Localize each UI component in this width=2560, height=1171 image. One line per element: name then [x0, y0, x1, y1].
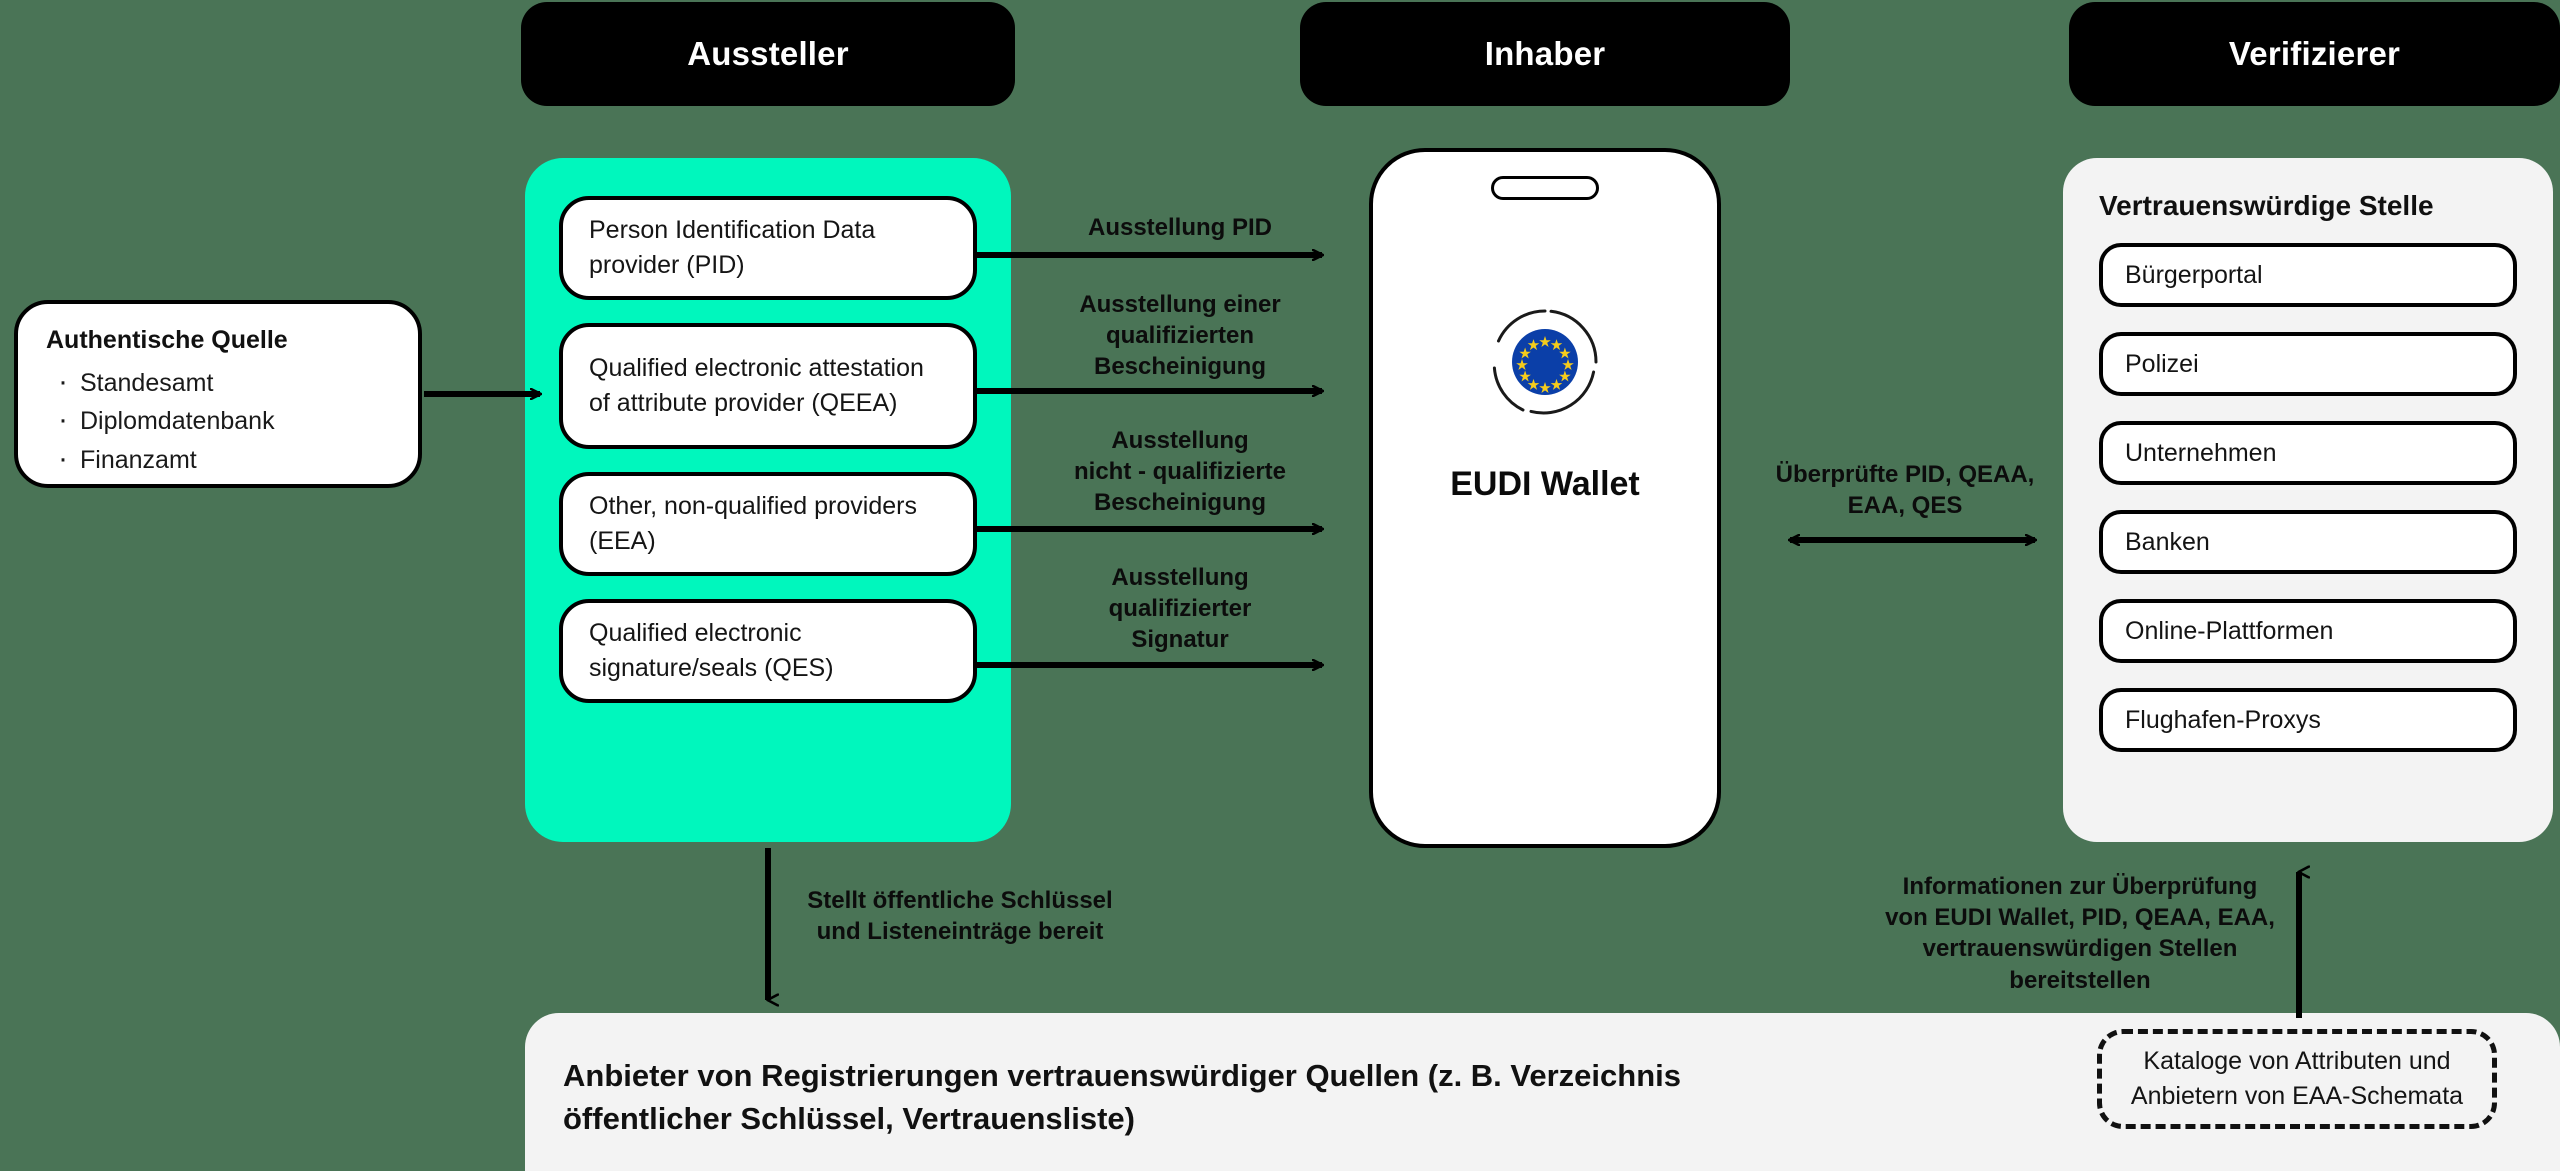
header-pill-verifizierer: Verifizierer: [2069, 2, 2560, 106]
phone-notch-icon: [1491, 176, 1599, 200]
verifier-card-polizei: Polizei: [2099, 332, 2517, 396]
header-pill-label: Inhaber: [1485, 35, 1606, 73]
registry-line-2: öffentlicher Schlüssel, Vertrauensliste): [563, 1101, 1135, 1136]
issuer-card-label: Qualified electronic signature/seals (QE…: [589, 616, 947, 687]
verifier-card-banken: Banken: [2099, 510, 2517, 574]
issuer-card-label: Person Identification Data provider (PID…: [589, 213, 947, 284]
flow-label-publish-keys: Stellt öffentliche Schlüssel und Listene…: [780, 885, 1140, 947]
authentic-source-box: Authentische Quelle Standesamt Diplomdat…: [14, 300, 422, 488]
verifier-card-buergerportal: Bürgerportal: [2099, 243, 2517, 307]
flow-label-issue-pid: Ausstellung PID: [1055, 212, 1305, 243]
verifier-panel: Vertrauenswürdige Stelle Bürgerportal Po…: [2063, 158, 2553, 842]
flow-label-issue-qes: Ausstellung qualifizierter Signatur: [1055, 562, 1305, 656]
verifier-card-label: Bürgerportal: [2125, 261, 2263, 290]
issuer-card-qes: Qualified electronic signature/seals (QE…: [559, 599, 977, 703]
flow-label-provide-info: Informationen zur Überprüfung von EUDI W…: [1855, 871, 2305, 996]
issuer-card-pid: Person Identification Data provider (PID…: [559, 196, 977, 300]
eudi-wallet-phone: EUDI Wallet: [1369, 148, 1721, 848]
flow-label-issue-eaa: Ausstellung nicht - qualifizierte Besche…: [1045, 425, 1315, 519]
header-pill-inhaber: Inhaber: [1300, 2, 1790, 106]
verifier-card-label: Unternehmen: [2125, 439, 2276, 468]
verifier-card-label: Flughafen-Proxys: [2125, 706, 2321, 735]
verifier-card-label: Banken: [2125, 528, 2210, 557]
issuer-card-label: Qualified electronic attestation of attr…: [589, 351, 947, 422]
registry-provider-text: Anbieter von Registrierungen vertrauensw…: [563, 1055, 1743, 1141]
verifier-card-unternehmen: Unternehmen: [2099, 421, 2517, 485]
authentic-source-list: Standesamt Diplomdatenbank Finanzamt: [46, 364, 390, 479]
list-item: Standesamt: [46, 364, 390, 402]
issuer-card-qeea: Qualified electronic attestation of attr…: [559, 323, 977, 449]
header-pill-label: Aussteller: [687, 35, 849, 73]
diagram-canvas: Aussteller Inhaber Verifizierer Authenti…: [0, 0, 2560, 1171]
eu-flag-icon: [1489, 306, 1601, 418]
issuer-panel: Person Identification Data provider (PID…: [525, 158, 1011, 842]
authentic-source-title: Authentische Quelle: [46, 326, 390, 355]
verifier-panel-title: Vertrauenswürdige Stelle: [2099, 190, 2517, 222]
registry-line-1: Anbieter von Registrierungen vertrauensw…: [563, 1058, 1681, 1093]
flow-label-verified-credentials: Überprüfte PID, QEAA, EAA, QES: [1745, 459, 2065, 521]
catalog-chip: Kataloge von Attributen und Anbietern vo…: [2097, 1029, 2497, 1129]
verifier-card-label: Polizei: [2125, 350, 2199, 379]
header-pill-label: Verifizierer: [2229, 35, 2400, 73]
verifier-card-flughafen-proxys: Flughafen-Proxys: [2099, 688, 2517, 752]
list-item: Finanzamt: [46, 441, 390, 479]
list-item: Diplomdatenbank: [46, 402, 390, 440]
wallet-title: EUDI Wallet: [1450, 462, 1640, 506]
verifier-card-online-plattformen: Online-Plattformen: [2099, 599, 2517, 663]
issuer-card-eea: Other, non-qualified providers (EEA): [559, 472, 977, 576]
header-pill-aussteller: Aussteller: [521, 2, 1015, 106]
verifier-card-label: Online-Plattformen: [2125, 617, 2333, 646]
issuer-card-label: Other, non-qualified providers (EEA): [589, 489, 947, 560]
flow-label-issue-qeaa: Ausstellung einer qualifizierten Beschei…: [1045, 289, 1315, 383]
